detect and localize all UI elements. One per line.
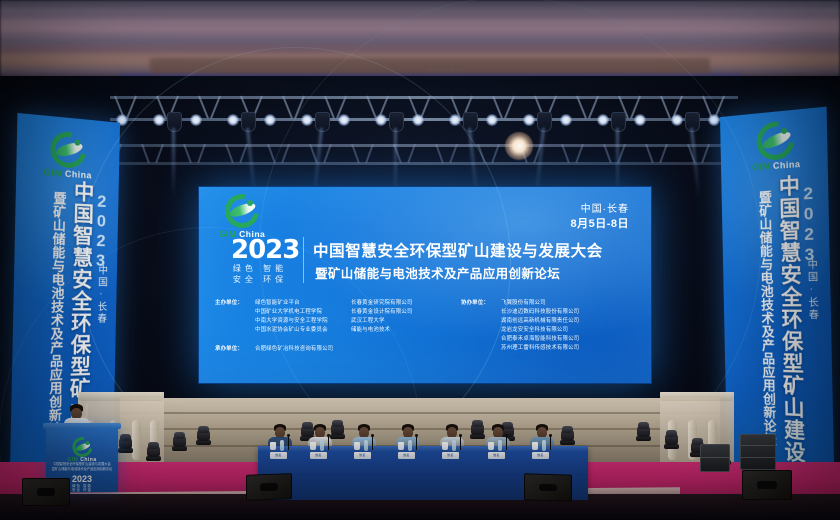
gim-logo-screen: GIM China [209, 194, 275, 239]
table-microphone [288, 436, 289, 450]
banner-right-year: 2023 [799, 183, 818, 265]
nameplate-text: 姓名 [488, 452, 505, 459]
nameplate-text: 姓名 [532, 452, 549, 459]
gim-logo-primary: GIM [43, 167, 62, 178]
podium-top-surface [43, 423, 121, 429]
sponsor-item: 武汉工程大学 [351, 317, 413, 326]
road-case [700, 444, 730, 472]
screen-motto-line1: 绿色 智能 [229, 263, 291, 274]
sponsor-item: 长春黄金设计院有限公司 [351, 308, 413, 317]
gim-logo-secondary: China [773, 159, 801, 171]
microphone-head-icon [287, 434, 290, 437]
table-microphone [550, 436, 551, 450]
water-cup [398, 442, 404, 450]
nameplate: 姓名 [488, 452, 505, 459]
nameplate: 姓名 [354, 452, 371, 459]
gim-logo-podium: GIM China [67, 437, 96, 463]
sponsor-coorg-list: 飞翼股份有限公司长沙迪迈数码科技股份有限公司湖南创远高新机械有限责任公司龙岩龙安… [501, 299, 579, 353]
water-bottle [280, 440, 284, 451]
microphone-head-icon [327, 434, 330, 437]
screen-location: 中国·长春 [581, 200, 629, 215]
nameplate-text: 姓名 [310, 452, 327, 459]
sponsor-item: 绿色智能矿业平台 [255, 299, 328, 308]
moving-head-light [664, 428, 679, 449]
sponsor-item: 长沙迪迈数码科技股份有限公司 [501, 308, 579, 317]
microphone-head-icon [415, 434, 418, 437]
nameplate-text: 姓名 [442, 452, 459, 459]
sponsor-item: 中南大学资源与安全工程学院 [255, 317, 328, 326]
gim-swoosh-icon [72, 437, 92, 457]
nameplate: 姓名 [398, 452, 415, 459]
moving-head-light [118, 432, 133, 453]
gim-swoosh-icon [50, 130, 86, 169]
main-led-screen: GIM China 中国·长春 8月5日-8日 2023 绿色 智能 安全 环保… [198, 186, 652, 384]
nameplate: 姓名 [442, 452, 459, 459]
nameplate: 姓名 [310, 452, 327, 459]
road-case [740, 434, 776, 470]
screen-motto-line2: 安全 环保 [229, 274, 291, 285]
floor-speaker [22, 478, 70, 506]
gim-logo-left: GIM China [35, 129, 101, 181]
gim-swoosh-icon [756, 120, 794, 161]
floor-speaker [246, 473, 292, 501]
conference-hall-scene: · · · · · GIM China 2023 中国·长春 中国智慧安全环保型… [0, 0, 840, 520]
table-microphone [328, 436, 329, 450]
banner-right-subtitle: 暨矿山储能与电池技术及产品应用创新论坛 [758, 190, 776, 446]
podium-subtitle: 暨矿山储能与电池技术及产品应用创新论坛 [46, 467, 118, 472]
sponsor-coorg-label: 协办单位： [461, 299, 489, 308]
gim-logo-secondary: China [65, 169, 92, 181]
gim-logo-primary: GIM [752, 161, 770, 172]
moving-head-light [636, 420, 651, 441]
sponsor-host-col2: 长春黄金研究院有限公司长春黄金设计院有限公司武汉工程大学储能与电池技术 [351, 299, 413, 335]
gim-swoosh-icon [225, 194, 259, 228]
microphone-head-icon [549, 434, 552, 437]
table-top-edge [258, 446, 588, 451]
table-microphone [416, 436, 417, 450]
sponsor-organizer-label: 承办单位： [215, 345, 243, 354]
water-bottle [542, 440, 546, 451]
microphone-head-icon [371, 434, 374, 437]
moving-head-light [330, 418, 345, 439]
water-cup [270, 442, 276, 450]
microphone-head-icon [505, 434, 508, 437]
sponsor-item: 中国水泥协会矿山专业委员会 [255, 326, 328, 335]
nameplate-text: 姓名 [270, 452, 287, 459]
water-bottle [364, 440, 368, 451]
sponsor-item: 合肥绿色矿冶科技咨询有限公司 [255, 345, 333, 354]
nameplate: 姓名 [270, 452, 287, 459]
screen-title: 中国智慧安全环保型矿山建设与发展大会 [313, 239, 603, 261]
nameplate-text: 姓名 [354, 452, 371, 459]
screen-divider [303, 237, 304, 283]
table-microphone [372, 436, 373, 450]
floor-speaker [524, 473, 572, 501]
water-cup [488, 442, 494, 450]
sponsor-item: 储能与电池技术 [351, 326, 413, 335]
moving-head-light [196, 424, 211, 445]
screen-year: 2023 [231, 235, 299, 265]
water-cup [532, 442, 538, 450]
sponsor-item: 中国矿业大学机电工程学院 [255, 308, 328, 317]
moving-head-light [470, 418, 485, 439]
moving-head-light [560, 424, 575, 445]
moving-head-light [172, 430, 187, 451]
sponsor-item: 湖南创远高新机械有限责任公司 [501, 317, 579, 326]
sponsor-host-col1: 绿色智能矿业平台中国矿业大学机电工程学院中南大学资源与安全工程学院中国水泥协会矿… [255, 299, 328, 335]
water-cup [354, 442, 360, 450]
screen-dates: 8月5日-8日 [570, 215, 629, 231]
water-cup [310, 442, 316, 450]
sponsor-item: 龙岩龙安安全科技有限公司 [501, 326, 579, 335]
truss-brace [126, 96, 137, 119]
water-bottle [408, 440, 412, 451]
microphone-head-icon [459, 434, 462, 437]
moving-head-light [146, 440, 161, 461]
water-bottle [498, 440, 502, 451]
screen-subtitle: 暨矿山储能与电池技术及产品应用创新论坛 [315, 263, 560, 282]
floor-speaker [742, 470, 792, 500]
table-microphone [506, 436, 507, 450]
ceiling-beam [0, 8, 840, 13]
gim-logo-right: GIM China [743, 119, 809, 173]
table-microphone [460, 436, 461, 450]
water-bottle [452, 440, 456, 451]
nameplate-text: 姓名 [398, 452, 415, 459]
sponsor-host-label: 主办单位： [215, 299, 243, 308]
banner-right-location: 中国·长春 [805, 259, 817, 321]
water-cup [442, 442, 448, 450]
sponsor-item: 苏州理工雷科传感技术有限公司 [501, 344, 579, 353]
sponsor-organizer-list: 合肥绿色矿冶科技咨询有限公司 [255, 345, 333, 354]
sponsor-item: 合肥泰禾卓海智能科技有限公司 [501, 335, 579, 344]
sponsor-item: 飞翼股份有限公司 [501, 299, 579, 308]
nameplate: 姓名 [532, 452, 549, 459]
sponsor-item: 长春黄金研究院有限公司 [351, 299, 413, 308]
water-bottle [320, 440, 324, 451]
